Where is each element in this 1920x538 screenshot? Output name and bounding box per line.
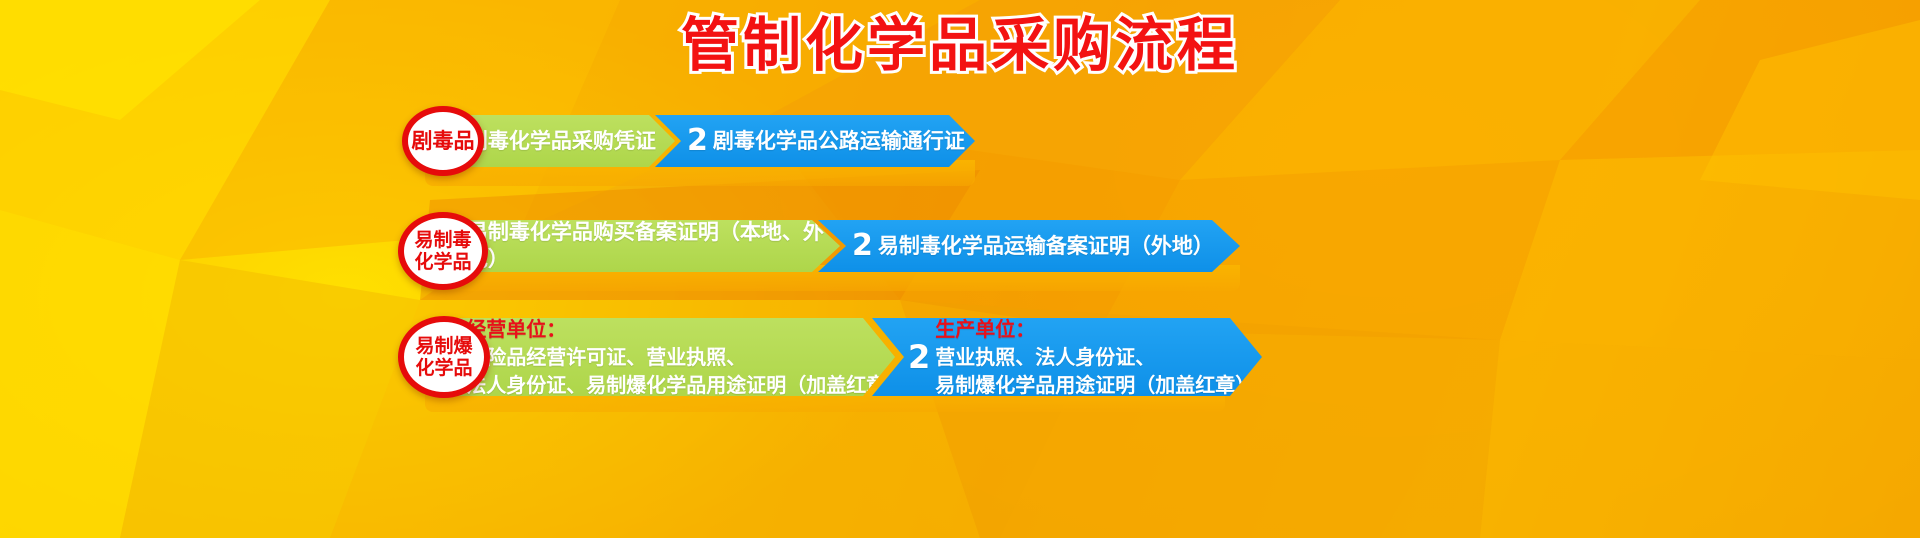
banner-root: 管制化学品采购流程 剧毒品 1 剧毒化学品采购凭证 2 剧毒化学品公路运输通行证… [0,0,1920,538]
step-row3-2-text: 生产单位：营业执照、法人身份证、 易制爆化学品用途证明（加盖红章） [935,315,1255,399]
step-row3-1-line2: 法人身份证、易制爆化学品用途证明（加盖红章） [466,371,906,399]
step-row3-1-text: 经营单位：危险品经营许可证、营业执照、 法人身份证、易制爆化学品用途证明（加盖红… [466,315,906,399]
page-title: 管制化学品采购流程 [0,8,1920,82]
step-row3-1-line1: 经营单位：危险品经营许可证、营业执照、 [466,315,906,371]
step-row2-2-text: 易制毒化学品运输备案证明（外地） [878,233,1214,260]
step-row3-2[interactable]: 2 生产单位：营业执照、法人身份证、 易制爆化学品用途证明（加盖红章） [872,318,1262,396]
badge-toxic-label: 剧毒品 [412,129,475,153]
step-row1-1-text: 剧毒化学品采购凭证 [467,128,656,155]
badge-precursor[interactable]: 易制毒 化学品 [398,212,488,290]
step-row3-2-line1-text: 营业执照、法人身份证、 [935,343,1255,371]
badge-explosive-precursor[interactable]: 易制爆 化学品 [398,316,490,398]
step-row3-2-unit: 生产单位： [935,317,1035,341]
step-row1-2-number: 2 [687,126,708,156]
step-row1-2-text: 剧毒化学品公路运输通行证 [713,128,965,155]
step-row3-2-number: 2 [908,341,930,373]
step-row3-1-line1-text: 危险品经营许可证、营业执照、 [466,343,906,371]
badge-explosive-precursor-label: 易制爆 化学品 [415,335,472,379]
step-row3-2-line1: 生产单位：营业执照、法人身份证、 [935,315,1255,371]
step-row2-2[interactable]: 2 易制毒化学品运输备案证明（外地） [818,220,1240,272]
step-row1-2[interactable]: 2 剧毒化学品公路运输通行证 [655,115,975,167]
badge-toxic[interactable]: 剧毒品 [402,106,484,176]
step-row3-1[interactable]: 1 经营单位：危险品经营许可证、营业执照、 法人身份证、易制爆化学品用途证明（加… [425,318,895,396]
step-row3-2-line2: 易制爆化学品用途证明（加盖红章） [935,371,1255,399]
badge-precursor-label: 易制毒 化学品 [414,229,471,273]
page-title-text: 管制化学品采购流程 [681,8,1239,82]
step-row2-2-number: 2 [852,231,873,261]
step-row2-1-text: 易制毒化学品购买备案证明（本地、外地） [467,219,840,273]
